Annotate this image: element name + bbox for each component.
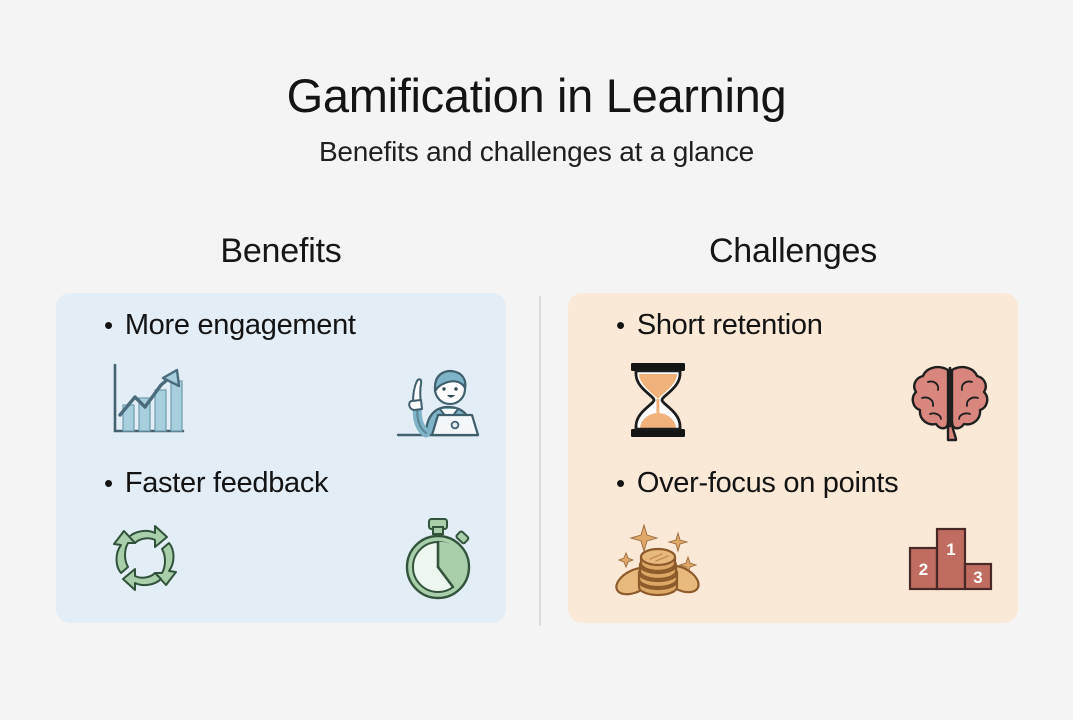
bullet-over-focus-on-points: • Over-focus on points: [568, 469, 1018, 498]
podium-rank-3: 3: [973, 568, 982, 587]
bullet-row-over-focus-on-points: • Over-focus on points: [568, 469, 1018, 627]
page-title: Gamification in Learning: [0, 70, 1073, 122]
bullet-row-short-retention: • Short retention: [568, 311, 1018, 469]
column-heading-challenges: Challenges: [568, 232, 1018, 271]
icon-pair-faster-feedback: [56, 510, 506, 606]
bullet-dot-icon: •: [616, 470, 625, 496]
bullet-label: Short retention: [637, 311, 823, 340]
columns-container: Benefits • More engagement: [0, 232, 1073, 632]
bullet-row-more-engagement: • More engagement: [56, 311, 506, 469]
stopwatch-icon: [390, 510, 486, 606]
benefits-panel: • More engagement: [56, 293, 506, 623]
bullet-row-faster-feedback: • Faster feedback: [56, 469, 506, 627]
podium-rank-1: 1: [946, 540, 955, 559]
bullet-faster-feedback: • Faster feedback: [56, 469, 506, 498]
challenges-panel: • Short retention: [568, 293, 1018, 623]
bullet-dot-icon: •: [104, 470, 113, 496]
bullet-short-retention: • Short retention: [568, 311, 1018, 340]
column-challenges: Challenges • Short retention: [568, 232, 1018, 623]
header: Gamification in Learning Benefits and ch…: [0, 70, 1073, 168]
icon-pair-over-focus-on-points: 2 1 3: [568, 510, 1018, 606]
growth-chart-icon: [98, 352, 194, 448]
bullet-dot-icon: •: [616, 312, 625, 338]
infographic-page: Gamification in Learning Benefits and ch…: [0, 0, 1073, 720]
person-laptop-icon: [390, 352, 486, 448]
podium-rank-2: 2: [919, 560, 928, 579]
column-benefits: Benefits • More engagement: [56, 232, 506, 623]
bullet-label: Faster feedback: [125, 469, 328, 498]
column-heading-benefits: Benefits: [56, 232, 506, 271]
bullet-dot-icon: •: [104, 312, 113, 338]
hourglass-icon: [610, 352, 706, 448]
bullet-label: Over-focus on points: [637, 469, 899, 498]
cycle-arrows-icon: [98, 510, 194, 606]
coins-icon: [610, 510, 706, 606]
brain-icon: [902, 352, 998, 448]
bullet-more-engagement: • More engagement: [56, 311, 506, 340]
bullet-label: More engagement: [125, 311, 356, 340]
icon-pair-short-retention: [568, 352, 1018, 448]
page-subtitle: Benefits and challenges at a glance: [0, 136, 1073, 168]
podium-icon: 2 1 3: [902, 510, 998, 606]
icon-pair-more-engagement: [56, 352, 506, 448]
